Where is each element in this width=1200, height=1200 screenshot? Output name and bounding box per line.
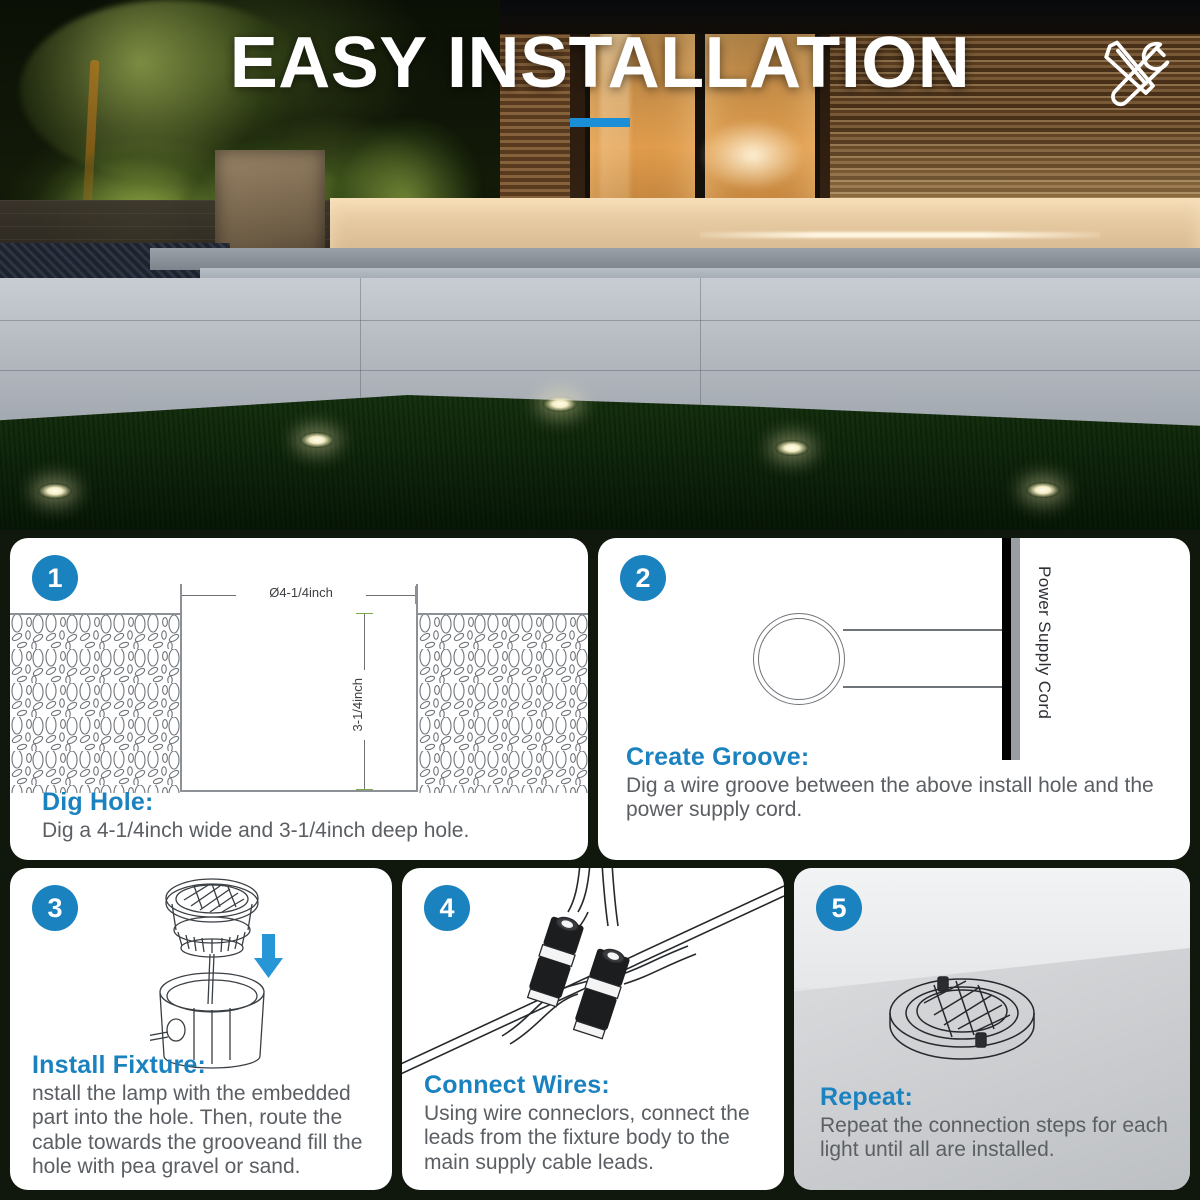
deck-led-strip [700,232,1100,238]
depth-dimension-label: 3-1/4inch [350,678,365,731]
step-card-1: 1 [10,538,588,860]
step-text-4: Connect Wires: Using wire conneclors, co… [424,1071,772,1175]
power-cord-black [1002,538,1011,760]
step-text-3: Install Fixture: nstall the lamp with th… [32,1051,382,1179]
soil-pattern [418,615,588,793]
step-badge-2: 2 [620,555,666,601]
power-cord-gray [1011,538,1020,760]
depth-dimension-label-wrap: 3-1/4inch [350,670,365,740]
wire-connector [572,945,632,1039]
ground-light [775,440,809,456]
step-badge-1: 1 [32,555,78,601]
step-heading-1: Dig Hole: [42,788,562,817]
page-title: EASY INSTALLATION [0,22,1200,104]
hero-banner: EASY INSTALLATION [0,0,1200,530]
ground-light [1026,482,1060,498]
depth-dim-tick-top [356,613,373,614]
width-dimension-label: Ø4-1/4inch [269,585,333,600]
patio-step-upper [150,248,1200,270]
width-dimension-label-wrap: Ø4-1/4inch [236,584,366,602]
step-body-5: Repeat the connection steps for each lig… [820,1114,1180,1163]
step-text-2: Create Groove: Dig a wire groove between… [626,743,1176,823]
title-underline [570,118,630,127]
soil-texture-right [418,613,588,791]
fixture-install-diagram [150,874,300,1069]
step-badge-3: 3 [32,885,78,931]
step-body-1: Dig a 4-1/4inch wide and 3-1/4inch deep … [42,819,562,843]
step-heading-3: Install Fixture: [32,1051,382,1080]
step-text-5: Repeat: Repeat the connection steps for … [820,1083,1180,1163]
screwdriver-wrench-icon [1090,30,1180,120]
groove-line-top [843,629,1006,631]
step-heading-5: Repeat: [820,1083,1180,1112]
installed-fixture-diagram [882,973,1042,1063]
step-card-3: 3 [10,868,392,1190]
step-card-4: 4 [402,868,784,1190]
width-dim-tick-left [181,586,182,604]
soil-texture-left [10,613,180,791]
ground-light [543,396,577,412]
ground-light [300,432,334,448]
hole-cross-section [180,584,418,792]
power-supply-cord-label: Power Supply Cord [1034,566,1054,719]
step-badge-4: 4 [424,885,470,931]
insert-arrow-icon [254,934,283,978]
step-body-2: Dig a wire groove between the above inst… [626,774,1174,823]
paving-joint [0,320,1200,321]
step-heading-2: Create Groove: [626,743,1176,772]
interior-light [700,120,805,190]
install-hole-inner-ring [758,618,840,700]
paving-joint [0,370,1200,371]
step-card-2: 2 Power Supply Cord Create Groove: Dig a… [598,538,1190,860]
step-badge-5: 5 [816,885,862,931]
step-text-1: Dig Hole: Dig a 4-1/4inch wide and 3-1/4… [42,788,562,843]
soil-pattern [10,615,180,793]
step-body-3: nstall the lamp with the embedded part i… [32,1082,382,1179]
step-heading-4: Connect Wires: [424,1071,772,1100]
step-body-4: Using wire conneclors, connect the leads… [424,1102,772,1175]
groove-line-bottom [843,686,1006,688]
ground-light [38,483,72,499]
step-card-5: 5 Repeat: Repeat the connection steps fo… [794,868,1190,1190]
width-dim-tick-right [415,586,416,604]
